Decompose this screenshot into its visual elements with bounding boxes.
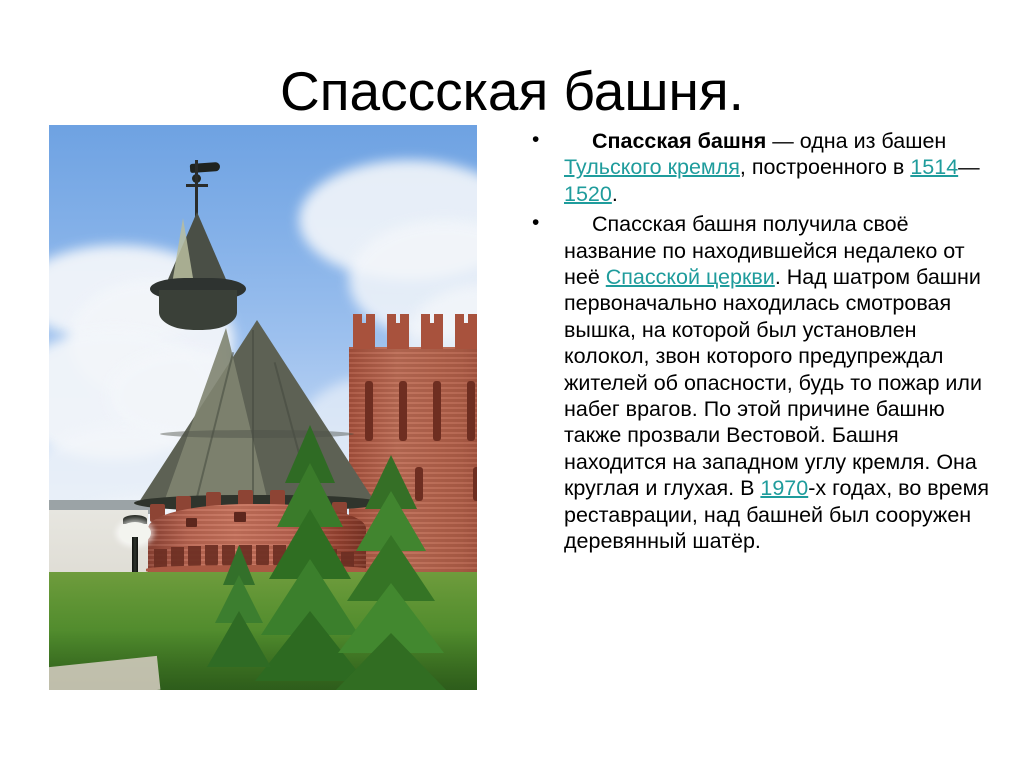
body-text: — xyxy=(958,155,980,179)
page-title: Спассская башня. xyxy=(0,59,1024,123)
wiki-link[interactable]: 1520 xyxy=(564,182,612,206)
tower-photo xyxy=(49,125,477,690)
body-text: . xyxy=(612,182,618,206)
lead-term: Спасская башня xyxy=(592,129,766,153)
wiki-link[interactable]: Спасской церкви xyxy=(606,265,775,289)
wall-merlon xyxy=(387,323,409,349)
conifer-tree-small xyxy=(199,545,279,690)
bullet-list: Спасская башня — одна из башен Тульского… xyxy=(524,128,994,555)
photo-canvas xyxy=(49,125,477,690)
wiki-link[interactable]: 1970 xyxy=(760,476,808,500)
tower-loophole xyxy=(186,518,197,527)
weathervane-rod xyxy=(195,160,198,218)
wall-merlon xyxy=(421,323,443,349)
wall-loophole xyxy=(467,381,475,441)
wall-loophole xyxy=(433,381,441,441)
upper-spire-highlight xyxy=(172,218,194,284)
list-item: Спасская башня — одна из башен Тульского… xyxy=(524,128,994,207)
wall-merlon xyxy=(455,323,477,349)
wall-window xyxy=(473,467,477,501)
list-item: Спасская башня получила своё название по… xyxy=(524,211,994,554)
wiki-link[interactable]: Тульского кремля xyxy=(564,155,740,179)
content-text-column: Спасская башня — одна из башен Тульского… xyxy=(524,128,994,559)
body-text: . Над шатром башни первоначально находил… xyxy=(564,265,982,500)
wiki-link[interactable]: 1514 xyxy=(910,155,958,179)
body-text: — одна из башен xyxy=(766,129,946,153)
roof-seam xyxy=(252,330,254,502)
tower-loophole xyxy=(234,512,246,522)
conifer-tree xyxy=(331,455,451,690)
body-text: , построенного в xyxy=(740,155,910,179)
wall-loophole xyxy=(399,381,407,441)
